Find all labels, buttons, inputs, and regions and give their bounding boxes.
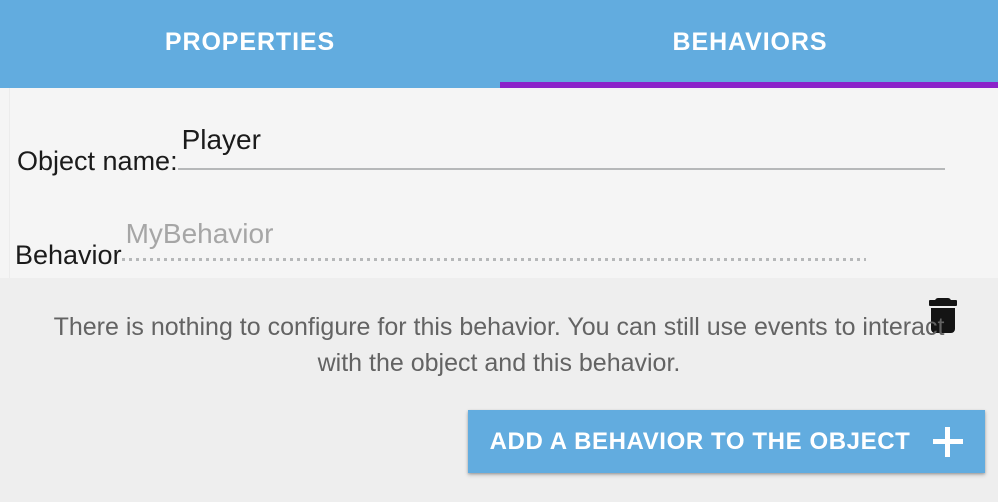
fields-panel: Object name: Player Behavior MyBehavior [0, 88, 998, 278]
tab-properties-label: PROPERTIES [165, 30, 335, 59]
tab-behaviors-label: BEHAVIORS [673, 30, 828, 59]
behavior-name-value: MyBehavior [126, 220, 274, 248]
plus-icon [933, 427, 963, 457]
behavior-description: There is nothing to configure for this b… [0, 278, 998, 381]
tab-behaviors[interactable]: BEHAVIORS [500, 0, 998, 88]
behavior-row: Behavior MyBehavior [0, 208, 998, 268]
object-name-row: Object name: Player [0, 114, 998, 174]
tab-properties[interactable]: PROPERTIES [0, 0, 500, 88]
add-behavior-button-label: ADD A BEHAVIOR TO THE OBJECT [490, 430, 911, 454]
behavior-label: Behavior [0, 242, 122, 269]
behaviors-panel: PROPERTIES BEHAVIORS Object name: Player… [0, 0, 998, 502]
object-name-underline [178, 168, 945, 170]
add-behavior-button[interactable]: ADD A BEHAVIOR TO THE OBJECT [468, 410, 985, 473]
behavior-name-underline [122, 258, 866, 261]
behavior-name-input[interactable]: MyBehavior [122, 208, 998, 264]
tab-bar: PROPERTIES BEHAVIORS [0, 0, 998, 88]
object-name-input[interactable]: Player [178, 114, 998, 170]
object-name-label: Object name: [0, 148, 178, 175]
object-name-value: Player [182, 126, 261, 154]
